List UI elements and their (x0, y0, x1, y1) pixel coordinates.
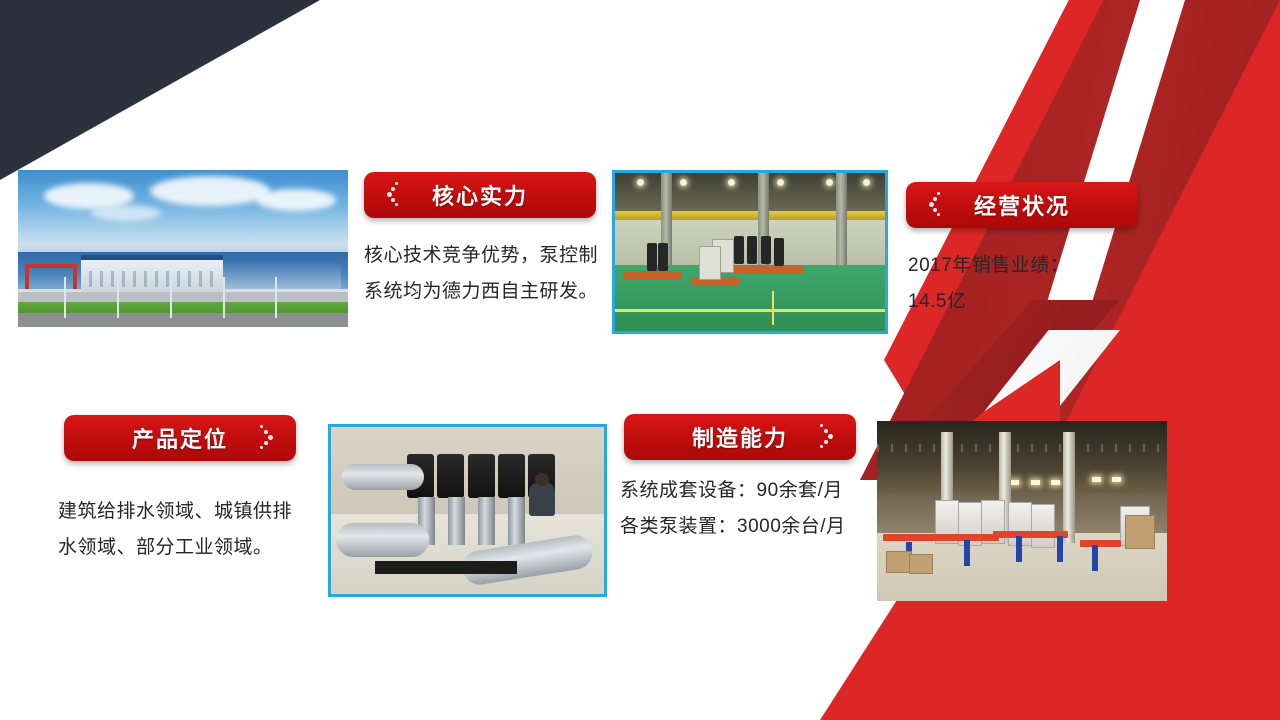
floor-marking-line (772, 291, 774, 325)
ceiling-lamp (1010, 480, 1019, 485)
conveyor-rail (1080, 540, 1121, 547)
ceiling-lamp (1031, 480, 1040, 485)
carton-box (909, 554, 933, 574)
pump-motor (437, 454, 464, 498)
section-heading-business-status[interactable]: 经营状况 (906, 182, 1138, 228)
photo-workshop-assembly (612, 170, 888, 334)
body-text-core-strength: 核心技术竞争优势，泵控制系统均为德力西自主研发。 (364, 238, 608, 310)
slide-canvas: 核心实力 核心技术竞争优势，泵控制系统均为德力西自主研发。 经营状况 2017年… (0, 0, 1280, 720)
chevron-left-icon (922, 190, 950, 220)
ceiling-lamp (826, 179, 833, 186)
road-strip (18, 313, 348, 327)
pump-shaft (478, 497, 495, 545)
heading-label: 核心实力 (408, 179, 552, 211)
roof-structure (877, 421, 1167, 493)
warehouse-building (223, 261, 342, 289)
electrical-cabinet (1031, 504, 1055, 548)
lamp-post (223, 277, 225, 318)
heading-label: 产品定位 (108, 422, 252, 454)
gantry-crane (25, 264, 78, 289)
pump-shaft (508, 497, 525, 545)
body-text-product-positioning: 建筑给排水领域、城镇供排水领域、部分工业领域。 (58, 494, 308, 566)
carton-box (886, 551, 912, 573)
conveyor-leg (1092, 545, 1098, 571)
conveyor-leg (1057, 536, 1063, 562)
pump-motor (468, 454, 495, 498)
floor-marking-line (615, 309, 885, 312)
manifold-pipe (342, 464, 424, 490)
ceiling-lamp (1051, 480, 1060, 485)
cloud-shape (91, 205, 161, 221)
control-cabinet (699, 246, 721, 280)
pump-motor (498, 454, 525, 498)
support-column (836, 173, 847, 271)
vertical-pump (774, 238, 784, 266)
lamp-post (64, 277, 66, 318)
assembly-bench (623, 271, 682, 280)
vertical-pump (761, 236, 771, 264)
section-heading-core-strength[interactable]: 核心实力 (364, 172, 596, 218)
section-heading-product-positioning[interactable]: 产品定位 (64, 415, 296, 461)
support-pillar (1063, 432, 1075, 544)
chevron-left-icon (380, 180, 408, 210)
photo-pump-units (328, 424, 607, 597)
pump-shaft (448, 497, 465, 545)
lamp-post (170, 277, 172, 318)
section-heading-manufacturing-capacity[interactable]: 制造能力 (624, 414, 856, 460)
roof-truss (877, 444, 1167, 451)
conveyor-rail (883, 534, 999, 541)
photo-plant-interior (877, 421, 1167, 601)
lamp-post (117, 277, 119, 318)
heading-label: 制造能力 (668, 421, 812, 453)
ceiling-lamp (1112, 477, 1121, 482)
body-text-business-status: 2017年销售业绩： 14.5亿 (908, 248, 1158, 320)
ceiling-lamp (637, 179, 644, 186)
main-office-building (81, 255, 223, 296)
vertical-pump (734, 236, 744, 264)
cloud-shape (256, 189, 336, 211)
pump-base-frame (375, 561, 517, 574)
vertical-pump (647, 243, 657, 271)
ceiling-lamp (1092, 477, 1101, 482)
vertical-pump (658, 243, 668, 271)
vertical-pump (747, 236, 757, 264)
manifold-pipe (336, 523, 429, 557)
worker-figure (529, 482, 555, 516)
conveyor-leg (1016, 536, 1022, 562)
lamp-post (275, 277, 277, 318)
heading-label: 经营状况 (950, 189, 1094, 221)
slide-content: 核心实力 核心技术竞争优势，泵控制系统均为德力西自主研发。 经营状况 2017年… (0, 0, 1280, 720)
carton-box (1125, 515, 1155, 549)
chevron-right-icon (812, 422, 840, 452)
body-text-manufacturing-capacity: 系统成套设备：90余套/月 各类泵装置：3000余台/月 (620, 473, 870, 545)
chevron-right-icon (252, 423, 280, 453)
conveyor-leg (964, 540, 970, 566)
photo-factory-exterior (18, 170, 348, 327)
